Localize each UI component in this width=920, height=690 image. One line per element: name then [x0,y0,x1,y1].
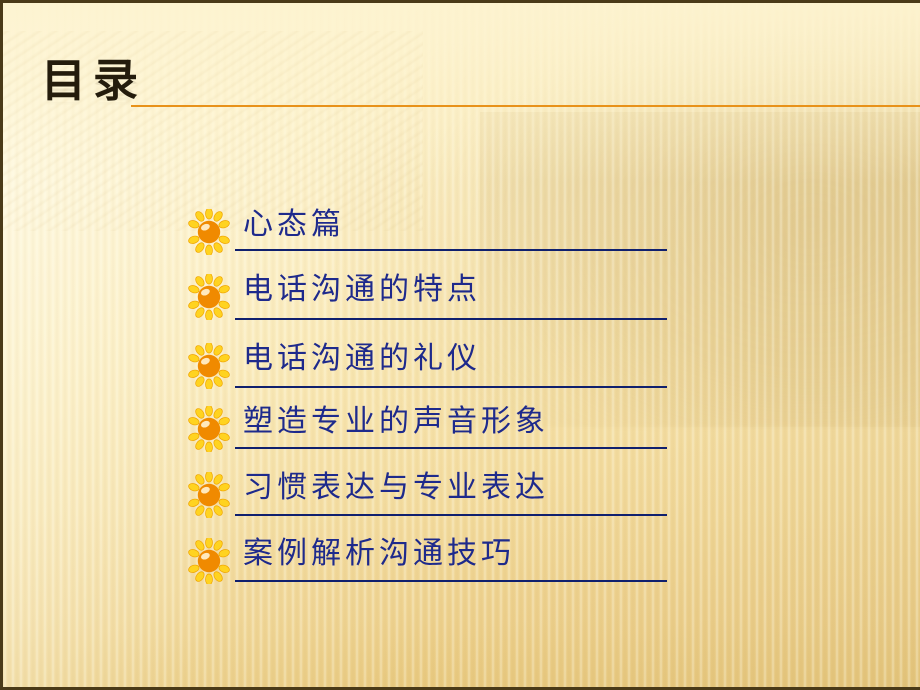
toc-item-underline [235,386,667,388]
toc-item[interactable]: 习惯表达与专业表达 [3,459,920,524]
toc-item-underline [235,580,667,582]
toc-item[interactable]: 电话沟通的特点 [3,264,920,329]
toc-item[interactable]: 心态篇 [3,199,920,264]
toc-item-label: 电话沟通的礼仪 [243,337,481,381]
toc-item-label: 习惯表达与专业表达 [243,466,549,510]
toc-item-underline [235,318,667,320]
title-divider [131,105,920,107]
sunflower-icon [186,343,232,389]
page-title: 目录 [41,58,145,103]
sunflower-icon [186,274,232,320]
sunflower-icon [186,209,232,255]
sunflower-icon [186,538,232,584]
toc-item[interactable]: 电话沟通的礼仪 [3,329,920,394]
toc-item-label: 案例解析沟通技巧 [243,532,515,576]
toc-item-label: 心态篇 [243,203,345,247]
toc-item-underline [235,514,667,516]
toc-item-label: 塑造专业的声音形象 [243,400,549,444]
toc-item[interactable]: 塑造专业的声音形象 [3,394,920,459]
sunflower-icon [186,406,232,452]
toc-item-label: 电话沟通的特点 [243,268,481,312]
slide-header: 目录 目录 [3,3,920,143]
toc-item-underline [235,249,667,251]
table-of-contents: 心态篇 [3,199,920,589]
toc-item-underline [235,447,667,449]
presentation-slide: 目录 目录 [0,0,920,690]
sunflower-icon [186,472,232,518]
toc-item[interactable]: 案例解析沟通技巧 [3,524,920,589]
